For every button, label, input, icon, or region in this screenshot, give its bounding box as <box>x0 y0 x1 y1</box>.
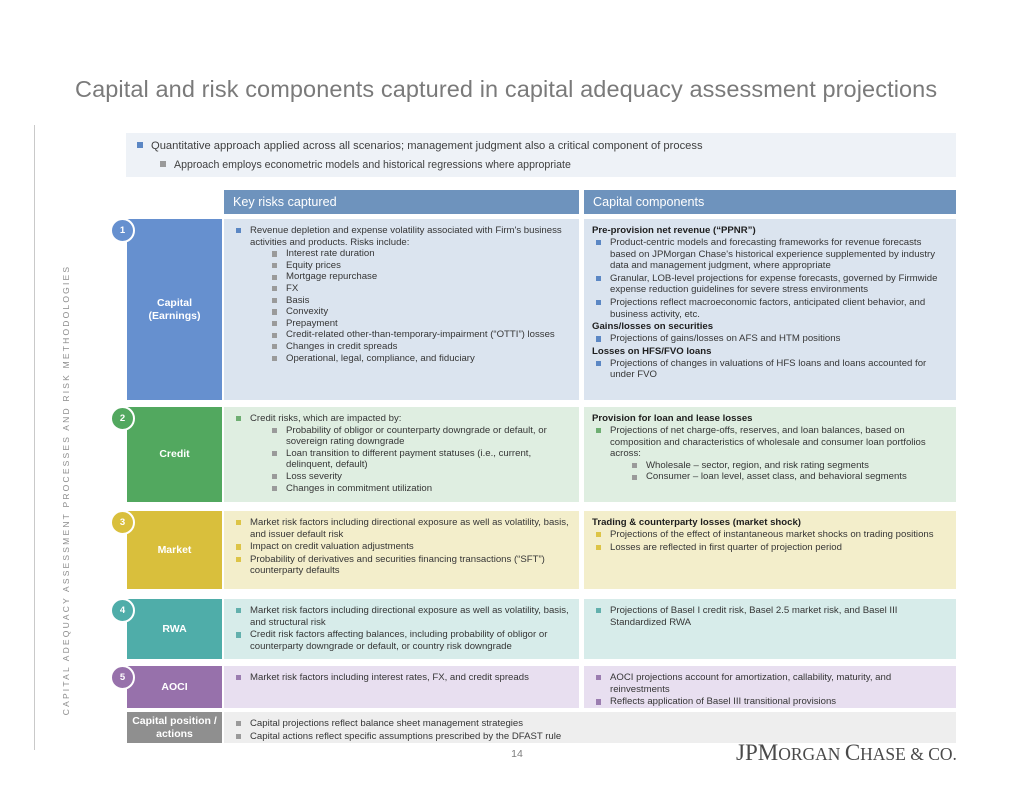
jpmorgan-chase-logo: JPMORGAN CHASE & CO. <box>736 740 957 766</box>
row-3-capital-components: Trading & counterparty losses (market sh… <box>584 511 956 589</box>
component-sub-list: Wholesale – sector, region, and risk rat… <box>610 460 948 483</box>
component-list: Product-centric models and forecasting f… <box>592 237 948 320</box>
sub-text: Prepayment <box>286 318 338 329</box>
sub-text: Changes in credit spreads <box>286 341 397 352</box>
logo-part-hase-co: HASE & C <box>860 744 940 764</box>
action-text: Capital actions reflect specific assumpt… <box>250 731 561 742</box>
component-heading: Trading & counterparty losses (market sh… <box>592 517 948 529</box>
callout-bullet-2-text: Approach employs econometric models and … <box>174 159 571 171</box>
callout-bullet-1-text: Quantitative approach applied across all… <box>151 140 703 152</box>
row-category-capital-earnings: Capital (Earnings) <box>127 219 222 400</box>
component-list: Projections of net charge-offs, reserves… <box>592 425 948 483</box>
row-2-capital-components: Provision for loan and lease losses Proj… <box>584 407 956 502</box>
list-item: Probability of obligor or counterparty d… <box>250 425 571 448</box>
bullet-square-icon <box>596 428 601 433</box>
bullet-square-icon <box>160 161 166 167</box>
risk-list: Credit risks, which are impacted by: Pro… <box>232 413 571 494</box>
list-item: Granular, LOB-level projections for expe… <box>592 273 948 296</box>
component-list: Projections of the effect of instantaneo… <box>592 529 948 553</box>
component-list: AOCI projections account for amortizatio… <box>592 672 948 708</box>
row-category-credit: Credit <box>127 407 222 502</box>
component-list: Projections of changes in valuations of … <box>592 358 948 381</box>
category-label-line2: actions <box>132 728 217 741</box>
list-item: Wholesale – sector, region, and risk rat… <box>610 460 948 472</box>
component-text: Projections of gains/losses on AFS and H… <box>610 333 840 344</box>
sub-text: Wholesale – sector, region, and risk rat… <box>646 460 869 471</box>
category-label-line1: AOCI <box>161 681 187 694</box>
row-category-capital-position-actions: Capital position / actions <box>127 712 222 743</box>
bullet-square-icon <box>272 321 277 326</box>
bullet-square-icon <box>596 300 601 305</box>
row-category-aoci: AOCI <box>127 666 222 708</box>
risk-sub-list: Probability of obligor or counterparty d… <box>250 425 571 495</box>
risk-text: Market risk factors including directiona… <box>250 605 569 628</box>
page-title: Capital and risk components captured in … <box>75 76 937 103</box>
bullet-square-icon <box>596 361 601 366</box>
category-label-line1: Credit <box>159 448 189 461</box>
logo-part-o: O. <box>940 744 957 764</box>
list-item: Projections of Basel I credit risk, Base… <box>592 605 948 628</box>
component-heading: Provision for loan and lease losses <box>592 413 948 425</box>
row-category-market: Market <box>127 511 222 589</box>
list-item: Projections of the effect of instantaneo… <box>592 529 948 541</box>
row-badge-2: 2 <box>110 406 135 431</box>
rail-label: CAPITAL ADEQUACY ASSESSMENT PROCESSES AN… <box>61 230 71 750</box>
category-label-line2: (Earnings) <box>149 310 201 323</box>
bullet-square-icon <box>272 333 277 338</box>
sub-text: Operational, legal, compliance, and fidu… <box>286 353 475 364</box>
row-1-key-risks: Revenue depletion and expense volatility… <box>224 219 579 400</box>
list-item: Impact on credit valuation adjustments <box>232 541 571 553</box>
list-item: Basis <box>250 295 571 307</box>
row-badge-4: 4 <box>110 598 135 623</box>
sub-text: Interest rate duration <box>286 248 375 259</box>
list-item: Projections of net charge-offs, reserves… <box>592 425 948 483</box>
bullet-square-icon <box>272 356 277 361</box>
sub-text: FX <box>286 283 298 294</box>
list-item: Changes in credit spreads <box>250 341 571 353</box>
sub-text: Mortgage repurchase <box>286 271 377 282</box>
sub-text: Changes in commitment utilization <box>286 483 432 494</box>
list-item: Projections of changes in valuations of … <box>592 358 948 381</box>
intro-callout: Quantitative approach applied across all… <box>126 133 956 177</box>
row-1-capital-components: Pre-provision net revenue (“PPNR”) Produ… <box>584 219 956 400</box>
row-5-capital-components: AOCI projections account for amortizatio… <box>584 666 956 708</box>
risk-list: Revenue depletion and expense volatility… <box>232 225 571 364</box>
list-item: Market risk factors including directiona… <box>232 517 571 540</box>
logo-part-organ: ORGAN <box>778 744 845 764</box>
component-list: Projections of gains/losses on AFS and H… <box>592 333 948 345</box>
category-label-line1: RWA <box>162 623 186 636</box>
risk-sub-list: Interest rate duration Equity prices Mor… <box>250 248 571 364</box>
list-item: Loan transition to different payment sta… <box>250 448 571 471</box>
logo-part-c: C <box>845 740 860 765</box>
row-badge-1: 1 <box>110 218 135 243</box>
component-heading: Pre-provision net revenue (“PPNR”) <box>592 225 948 237</box>
bullet-square-icon <box>272 251 277 256</box>
bullet-square-icon <box>272 298 277 303</box>
slide-root: CAPITAL ADEQUACY ASSESSMENT PROCESSES AN… <box>0 0 1034 799</box>
list-item: Prepayment <box>250 318 571 330</box>
component-text: Granular, LOB-level projections for expe… <box>610 273 937 296</box>
component-text: Reflects application of Basel III transi… <box>610 696 836 707</box>
risk-text: Market risk factors including interest r… <box>250 672 529 683</box>
bullet-square-icon <box>236 544 241 549</box>
bullet-square-icon <box>236 520 241 525</box>
callout-bullet-2: Approach employs econometric models and … <box>160 159 571 171</box>
row-5-key-risks: Market risk factors including interest r… <box>224 666 579 708</box>
list-item: Operational, legal, compliance, and fidu… <box>250 353 571 365</box>
bullet-square-icon <box>236 608 241 613</box>
bullet-square-icon <box>596 608 601 613</box>
bullet-square-icon <box>632 463 637 468</box>
row-6-capital-actions: Capital projections reflect balance shee… <box>224 712 956 743</box>
list-item: Equity prices <box>250 260 571 272</box>
bullet-square-icon <box>236 228 241 233</box>
component-heading: Losses on HFS/FVO loans <box>592 346 948 358</box>
list-item: Mortgage repurchase <box>250 271 571 283</box>
component-text: AOCI projections account for amortizatio… <box>610 672 891 695</box>
row-4-capital-components: Projections of Basel I credit risk, Base… <box>584 599 956 659</box>
list-item: Loss severity <box>250 471 571 483</box>
component-text: Projections of changes in valuations of … <box>610 358 926 381</box>
bullet-square-icon <box>236 721 241 726</box>
bullet-square-icon <box>236 557 241 562</box>
list-item: Market risk factors including directiona… <box>232 605 571 628</box>
row-badge-5: 5 <box>110 665 135 690</box>
risk-text: Probability of derivatives and securitie… <box>250 554 545 577</box>
risk-text: Credit risk factors affecting balances, … <box>250 629 547 652</box>
logo-part-jp: JP <box>736 740 758 765</box>
list-item: AOCI projections account for amortizatio… <box>592 672 948 695</box>
row-2-key-risks: Credit risks, which are impacted by: Pro… <box>224 407 579 502</box>
sub-text: Consumer – loan level, asset class, and … <box>646 471 907 482</box>
list-item: Interest rate duration <box>250 248 571 260</box>
bullet-square-icon <box>236 632 241 637</box>
bullet-square-icon <box>272 275 277 280</box>
category-label-line1: Capital position / <box>132 715 217 728</box>
callout-bullet-1: Quantitative approach applied across all… <box>137 140 703 152</box>
list-item: Consumer – loan level, asset class, and … <box>610 471 948 483</box>
bullet-square-icon <box>137 142 143 148</box>
row-category-rwa: RWA <box>127 599 222 659</box>
list-item: Revenue depletion and expense volatility… <box>232 225 571 364</box>
sub-text: Basis <box>286 295 309 306</box>
bullet-square-icon <box>272 286 277 291</box>
bullet-square-icon <box>272 263 277 268</box>
column-header-capital-components: Capital components <box>584 190 956 214</box>
list-item: Credit risks, which are impacted by: Pro… <box>232 413 571 494</box>
bullet-square-icon <box>236 734 241 739</box>
logo-part-m: M <box>758 740 778 765</box>
sub-text: Loan transition to different payment sta… <box>286 448 531 471</box>
row-3-key-risks: Market risk factors including directiona… <box>224 511 579 589</box>
risk-list: Market risk factors including directiona… <box>232 517 571 577</box>
row-badge-3: 3 <box>110 510 135 535</box>
list-item: Projections reflect macroeconomic factor… <box>592 297 948 320</box>
column-header-key-risks: Key risks captured <box>224 190 579 214</box>
bullet-square-icon <box>596 545 601 550</box>
sub-text: Probability of obligor or counterparty d… <box>286 425 547 448</box>
bullet-square-icon <box>272 486 277 491</box>
bullet-square-icon <box>272 474 277 479</box>
bullet-square-icon <box>272 309 277 314</box>
risk-text: Market risk factors including directiona… <box>250 517 569 540</box>
list-item: FX <box>250 283 571 295</box>
component-text: Projections of Basel I credit risk, Base… <box>610 605 897 628</box>
bullet-square-icon <box>596 276 601 281</box>
vertical-rail: CAPITAL ADEQUACY ASSESSMENT PROCESSES AN… <box>44 235 66 755</box>
bullet-square-icon <box>632 475 637 480</box>
component-heading: Gains/losses on securities <box>592 321 948 333</box>
component-text: Projections reflect macroeconomic factor… <box>610 297 925 320</box>
list-item: Probability of derivatives and securitie… <box>232 554 571 577</box>
sub-text: Credit-related other-than-temporary-impa… <box>286 329 555 340</box>
list-item: Reflects application of Basel III transi… <box>592 696 948 708</box>
bullet-square-icon <box>236 675 241 680</box>
sub-text: Loss severity <box>286 471 342 482</box>
bullet-square-icon <box>596 675 601 680</box>
category-label-line1: Market <box>158 544 192 557</box>
component-text: Product-centric models and forecasting f… <box>610 237 935 271</box>
bullet-square-icon <box>596 699 601 704</box>
list-item: Credit-related other-than-temporary-impa… <box>250 329 571 341</box>
risk-text: Revenue depletion and expense volatility… <box>250 225 562 248</box>
bullet-square-icon <box>596 240 601 245</box>
risk-text: Impact on credit valuation adjustments <box>250 541 414 552</box>
action-list: Capital projections reflect balance shee… <box>232 718 948 742</box>
list-item: Product-centric models and forecasting f… <box>592 237 948 272</box>
bullet-square-icon <box>272 451 277 456</box>
risk-text: Credit risks, which are impacted by: <box>250 413 401 424</box>
component-list: Projections of Basel I credit risk, Base… <box>592 605 948 628</box>
list-item: Changes in commitment utilization <box>250 483 571 495</box>
risk-list: Market risk factors including directiona… <box>232 605 571 652</box>
list-item: Market risk factors including interest r… <box>232 672 571 684</box>
list-item: Losses are reflected in first quarter of… <box>592 542 948 554</box>
rail-divider <box>34 125 35 750</box>
component-text: Projections of net charge-offs, reserves… <box>610 425 926 459</box>
action-text: Capital projections reflect balance shee… <box>250 718 523 729</box>
row-4-key-risks: Market risk factors including directiona… <box>224 599 579 659</box>
bullet-square-icon <box>272 428 277 433</box>
component-text: Projections of the effect of instantaneo… <box>610 529 934 540</box>
list-item: Convexity <box>250 306 571 318</box>
bullet-square-icon <box>236 416 241 421</box>
sub-text: Equity prices <box>286 260 341 271</box>
category-label-line1: Capital <box>149 297 201 310</box>
risk-list: Market risk factors including interest r… <box>232 672 571 684</box>
list-item: Credit risk factors affecting balances, … <box>232 629 571 652</box>
list-item: Capital projections reflect balance shee… <box>232 718 948 730</box>
bullet-square-icon <box>596 336 601 341</box>
bullet-square-icon <box>272 344 277 349</box>
list-item: Projections of gains/losses on AFS and H… <box>592 333 948 345</box>
component-text: Losses are reflected in first quarter of… <box>610 542 842 553</box>
sub-text: Convexity <box>286 306 328 317</box>
bullet-square-icon <box>596 532 601 537</box>
